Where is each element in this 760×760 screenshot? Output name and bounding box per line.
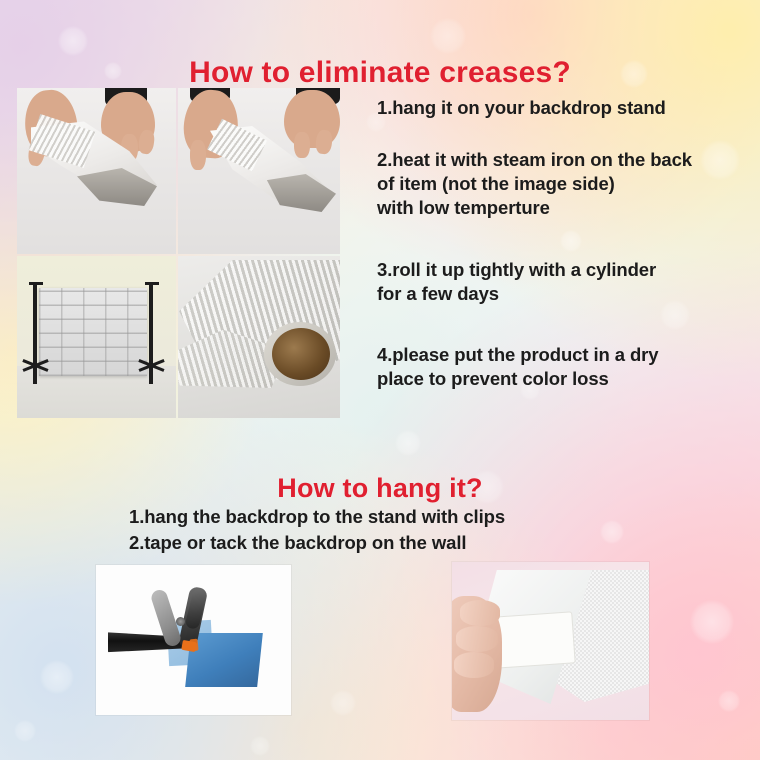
creases-step-4: 4.please put the product in a dry place … — [377, 343, 658, 391]
creases-step-1: 1.hang it on your backdrop stand — [377, 96, 666, 120]
creases-step-2: 2.heat it with steam iron on the back of… — [377, 148, 692, 220]
hang-step-1: 1.hang the backdrop to the stand with cl… — [129, 506, 505, 528]
adhesive-pad-photo — [452, 562, 649, 720]
hang-step-2: 2.tape or tack the backdrop on the wall — [129, 532, 466, 554]
page-title-how-to-hang: How to hang it? — [0, 473, 760, 504]
creases-photo-collage — [17, 88, 340, 418]
infographic-page: How to eliminate creases? — [0, 0, 760, 760]
creases-step-3: 3.roll it up tightly with a cylinder for… — [377, 258, 656, 306]
backdrop-stand-photo — [17, 256, 176, 418]
spring-clamp-photo — [96, 565, 291, 715]
rolled-backdrop-photo — [178, 256, 340, 418]
steam-iron-pressing-photo-right — [178, 88, 340, 254]
page-title-eliminate-creases: How to eliminate creases? — [0, 56, 760, 90]
steam-iron-pressing-photo-left — [17, 88, 176, 254]
